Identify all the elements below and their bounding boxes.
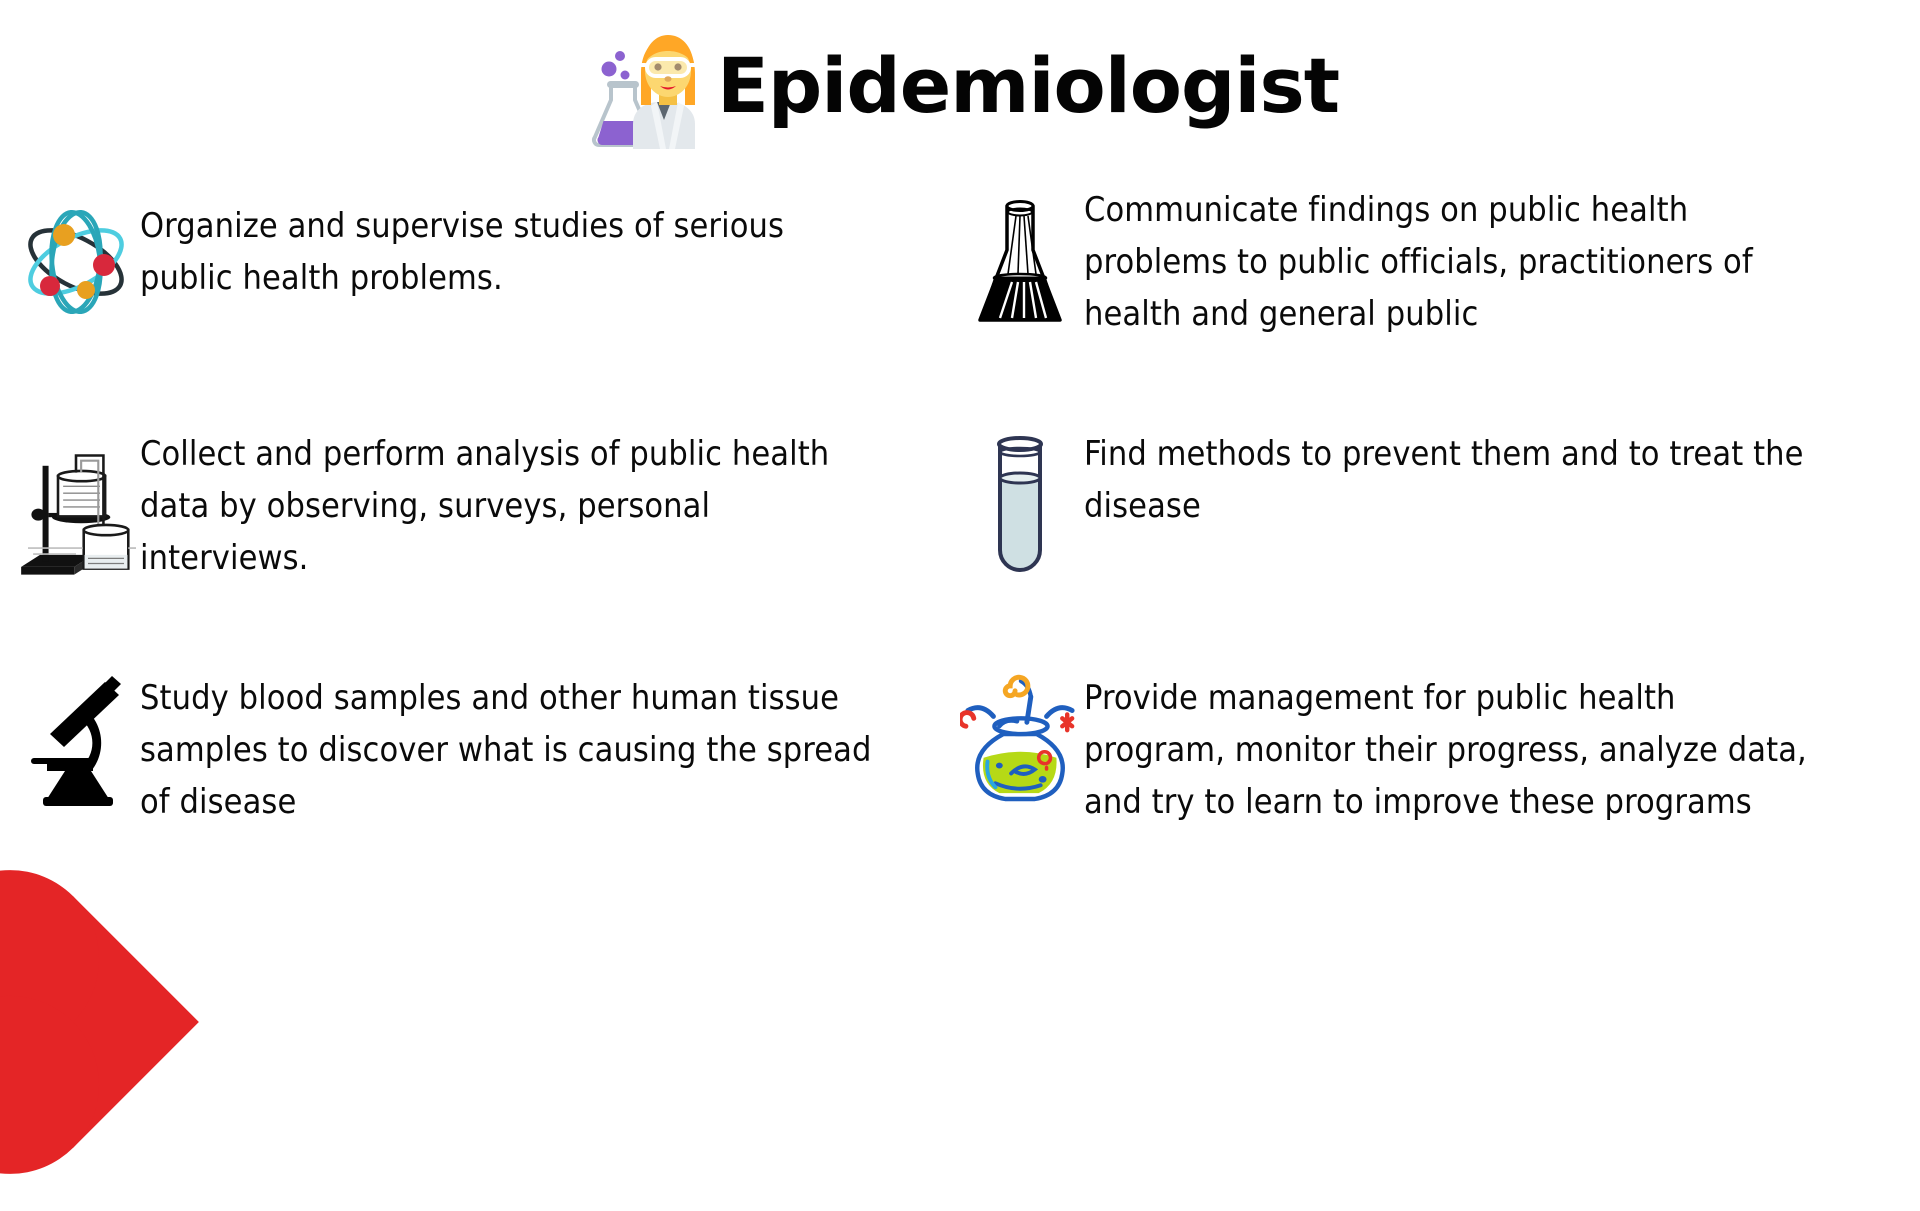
- list-item-text: Communicate findings on public health pr…: [1080, 184, 1824, 340]
- list-item: Communicate findings on public health pr…: [960, 184, 1860, 340]
- lab-stand-beakers-icon: [16, 428, 136, 560]
- page-title: Epidemiologist: [717, 48, 1339, 130]
- test-tube-icon: [960, 428, 1080, 560]
- erlenmeyer-flask-icon: [960, 184, 1080, 316]
- list-item: Organize and supervise studies of seriou…: [16, 200, 916, 332]
- woman-scientist-emoji: [581, 29, 711, 149]
- list-item: Study blood samples and other human tiss…: [16, 672, 916, 828]
- right-column: Communicate findings on public health pr…: [960, 200, 1860, 990]
- bullets-grid: Organize and supervise studies of seriou…: [0, 200, 1920, 1000]
- list-item-text: Study blood samples and other human tiss…: [136, 672, 880, 828]
- list-item-text: Collect and perform analysis of public h…: [136, 428, 880, 584]
- atom-icon: [16, 200, 136, 332]
- microscope-icon: [16, 672, 136, 804]
- list-item-text: Organize and supervise studies of seriou…: [136, 200, 880, 304]
- list-item-text: Find methods to prevent them and to trea…: [1080, 428, 1824, 532]
- left-column: Organize and supervise studies of seriou…: [16, 200, 916, 990]
- slide-title-row: Epidemiologist: [0, 24, 1920, 154]
- list-item: Find methods to prevent them and to trea…: [960, 428, 1860, 560]
- list-item: Provide management for public health pro…: [960, 672, 1860, 828]
- bubbling-flask-icon: [960, 672, 1080, 804]
- list-item-text: Provide management for public health pro…: [1080, 672, 1824, 828]
- list-item: Collect and perform analysis of public h…: [16, 428, 916, 584]
